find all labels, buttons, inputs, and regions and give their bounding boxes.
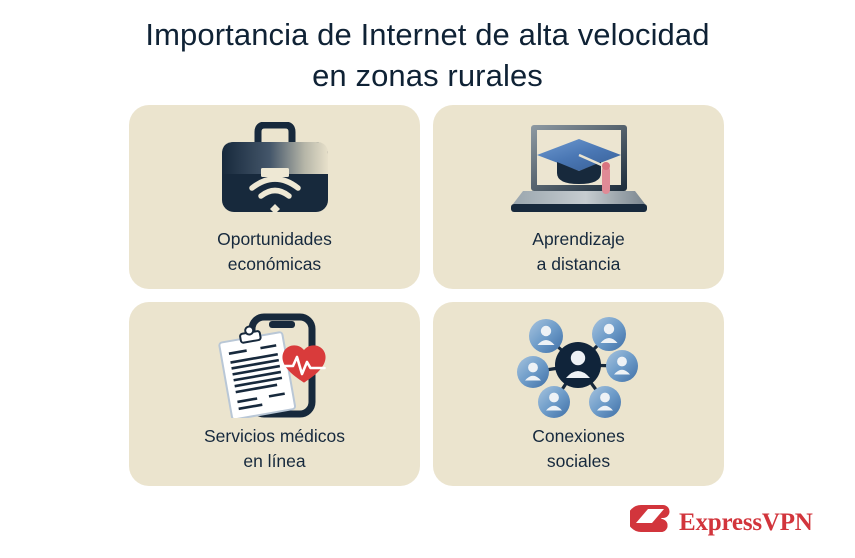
laptop-graduation-cap-icon [509, 113, 649, 223]
card-conexiones-sociales: Conexiones sociales [433, 302, 724, 486]
page-title: Importancia de Internet de alta velocida… [0, 14, 855, 96]
expressvpn-e-mark-icon [630, 503, 670, 541]
social-network-avatars-icon [516, 310, 641, 420]
expressvpn-wordmark: ExpressVPN [679, 510, 813, 535]
expressvpn-logo: ExpressVPN [630, 503, 813, 541]
card-oportunidades-economicas: Oportunidades económicas [129, 105, 420, 289]
card-servicios-medicos-en-linea: Servicios médicos en línea [129, 302, 420, 486]
card-label: Aprendizaje a distancia [532, 227, 624, 277]
card-label: Conexiones sociales [532, 424, 624, 474]
card-grid: Oportunidades económicas [129, 105, 724, 486]
card-label: Oportunidades económicas [217, 227, 332, 277]
card-label: Servicios médicos en línea [204, 424, 345, 474]
briefcase-wifi-icon [216, 113, 334, 223]
phone-clipboard-heart-icon [212, 310, 337, 420]
card-aprendizaje-a-distancia: Aprendizaje a distancia [433, 105, 724, 289]
